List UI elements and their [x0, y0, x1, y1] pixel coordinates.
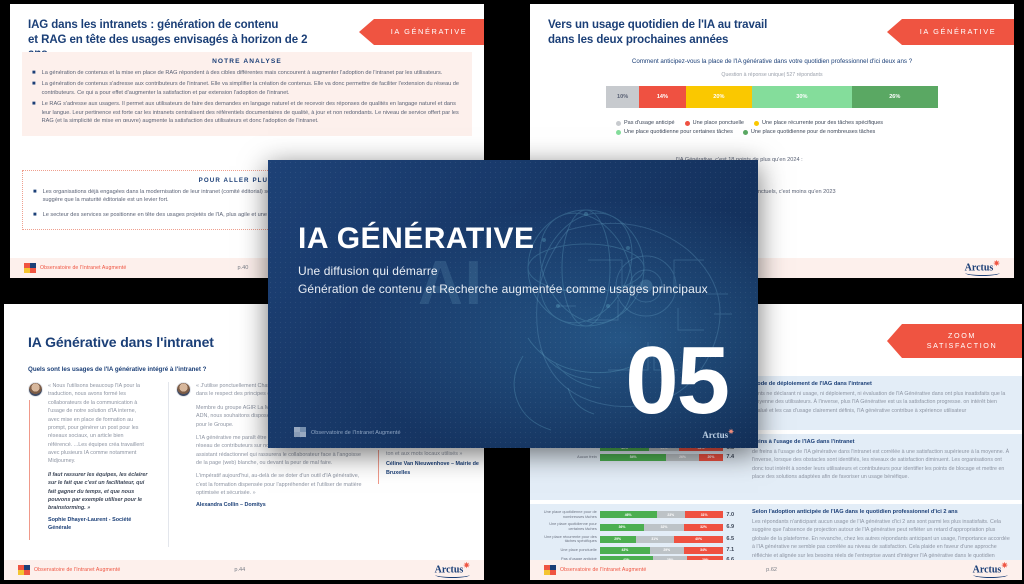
panel-notre-analyse: NOTRE ANALYSE ■ La génération de contenu… — [22, 52, 472, 136]
satisfaction-row: Une place ponctuelle43%29%34%7.1 — [536, 547, 742, 554]
bar-segment: 29% — [600, 536, 636, 543]
column-divider — [168, 382, 169, 547]
row-score: 6.9 — [726, 524, 742, 530]
brand-star-icon: ✷ — [993, 259, 1000, 268]
ribbon-line-2: SATISFACTION — [927, 341, 998, 351]
bar-segment: 34% — [684, 547, 724, 554]
overlay-subtitle-2: Génération de contenu et Recherche augme… — [298, 282, 708, 296]
bar-segment: 32% — [684, 524, 724, 531]
row-track: 29%31%40% — [600, 536, 724, 543]
quote-text: ton et aux mots locaux utilisés » — [386, 450, 484, 458]
brand-name: Arctus — [965, 262, 994, 273]
legend-row: Pas d'usage anticipé Une place ponctuell… — [616, 120, 883, 126]
row-label: Une place quotidienne pour certaines tâc… — [536, 522, 597, 532]
footer-observatory-label: Observatoire de l'Intranet Augmenté — [311, 430, 401, 436]
bar-segment: 14% — [639, 86, 685, 108]
bar-segment: 30% — [752, 86, 852, 108]
row-label: Une place ponctuelle — [536, 548, 597, 553]
row-track: 36%32%32% — [600, 524, 724, 531]
avatar — [176, 382, 191, 397]
bar-segment: 54% — [600, 454, 667, 461]
observatory-logo-group: Observatoire de l'Intranet Augmenté — [24, 263, 126, 274]
bar-segment: 32% — [644, 524, 684, 531]
title-line-1: Vers un usage quotidien de l'IA au trava… — [548, 18, 848, 33]
insight-body: dants ne déclarant ni usage, ni déploiem… — [752, 391, 1005, 414]
legend-item: Une place ponctuelle — [685, 120, 744, 126]
chart-legend: Pas d'usage anticipé Une place ponctuell… — [616, 120, 883, 138]
bar-segment: 26% — [852, 86, 938, 108]
bar-segment: 23% — [657, 511, 685, 518]
quote-accent-bar — [29, 400, 30, 540]
analysis-bullet: ■ Le RAG s'adresse aux usagers. Il perme… — [32, 100, 462, 125]
row-label: Une place récurrente pour des tâches spé… — [536, 535, 597, 545]
ribbon-badge: IA GÉNÉRATIVE — [902, 19, 1014, 45]
chart-subcaption: Question à réponse unique| 527 répondant… — [530, 72, 1014, 78]
title-line-1: IAG dans les intranets : génération de c… — [28, 18, 328, 33]
analysis-bullet: ■ La génération de contenus s'adresse au… — [32, 80, 462, 97]
arctus-squares-icon — [544, 565, 556, 576]
satisfaction-row: Une place quotidienne pour certaines tâc… — [536, 522, 742, 532]
quote-text-emphasis: Il faut rassurer les équipes, les éclair… — [48, 471, 148, 513]
legend-label: Une place quotidienne pour de nombreuses… — [751, 129, 875, 135]
quote-column-1: « Nous l'utilisons beaucoup l'IA pour la… — [48, 382, 148, 532]
legend-bullet-icon — [754, 121, 759, 126]
legend-item: Pas d'usage anticipé — [616, 120, 675, 126]
legend-label: Une place récurrente pour des tâches spé… — [762, 120, 883, 126]
arctus-squares-icon — [24, 263, 36, 274]
bar-segment: 20% — [686, 86, 752, 108]
quote-avatar-wrap — [176, 382, 194, 397]
slide-footer: Observatoire de l'Intranet Augmenté p.62… — [530, 560, 1022, 580]
insight-title: thode de déploiement de l'IAG dans l'int… — [752, 380, 1012, 389]
bar-segment: 20% — [699, 454, 724, 461]
bullet-dot: ■ — [32, 69, 36, 77]
legend-bullet-icon — [616, 121, 621, 126]
stacked-bar-chart: 10%14%20%30%26% — [606, 86, 938, 108]
row-label: Une place quotidienne pour de nombreuses… — [536, 510, 597, 520]
avatar — [28, 382, 43, 397]
slide-overlay-section-divider[interactable]: AI IA GÉNÉRATIVE Une diffusion qui démar… — [268, 160, 758, 448]
row-label: Aucun frein — [536, 455, 597, 460]
bar-segment: 10% — [606, 86, 639, 108]
footer-observatory-label: Observatoire de l'Intranet Augmenté — [40, 265, 126, 271]
page-number: p.62 — [766, 567, 777, 573]
insight-title: Selon l'adoption anticipée de l'IAG dans… — [752, 508, 1012, 517]
legend-item: Une place quotidienne pour de nombreuses… — [743, 129, 875, 135]
row-score: 7.1 — [726, 547, 742, 553]
bullet-dot: ■ — [32, 80, 36, 97]
ribbon-badge: ZOOM SATISFACTION — [902, 324, 1022, 358]
quote-avatar-wrap — [28, 382, 46, 397]
footer-observatory-label: Observatoire de l'Intranet Augmenté — [34, 567, 120, 573]
row-score: 7.0 — [726, 512, 742, 518]
bar-segment: 31% — [685, 511, 723, 518]
arctus-squares-icon — [18, 565, 30, 576]
brand-logo: Arctus✷ — [965, 259, 1000, 276]
satisfaction-row: Une place récurrente pour des tâches spé… — [536, 535, 742, 545]
sub-question: Quels sont les usages de l'IA générative… — [28, 366, 206, 373]
legend-item: Une place récurrente pour des tâches spé… — [754, 120, 883, 126]
bar-segment: 29% — [650, 547, 684, 554]
bullet-text: La génération de contenus s'adresse aux … — [42, 80, 462, 97]
legend-bullet-icon — [743, 130, 748, 135]
row-track: 54%26%20% — [600, 454, 724, 461]
title-line-2: dans les deux prochaines années — [548, 33, 848, 48]
row-score: 7.4 — [726, 454, 742, 460]
bullet-dot: ■ — [32, 100, 36, 125]
satisfaction-row: Une place quotidienne pour de nombreuses… — [536, 510, 742, 520]
brand-logo: Arctus✷ — [973, 561, 1008, 578]
bullet-dot: ■ — [33, 211, 37, 219]
panel-heading: NOTRE ANALYSE — [32, 58, 462, 65]
insight-body: de freins à l'usage de l'IA générative d… — [752, 449, 1009, 480]
insight-title: freins à l'usage de l'IAG dans l'intrane… — [752, 438, 1012, 447]
bar-segment: 26% — [666, 454, 698, 461]
insight-text-2: freins à l'usage de l'IAG dans l'intrane… — [752, 438, 1012, 482]
bar-segment: 40% — [674, 536, 723, 543]
page-number: p.44 — [234, 567, 245, 573]
insight-text-1: thode de déploiement de l'IAG dans l'int… — [752, 380, 1012, 415]
bar-segment: 36% — [600, 524, 644, 531]
legend-label: Une place quotidienne pour certaines tâc… — [624, 129, 733, 135]
page-title: Vers un usage quotidien de l'IA au trava… — [548, 18, 848, 47]
bullet-dot: ■ — [33, 188, 37, 205]
quote-author: Céline Van Nieuwenhove – Mairie de Bruxe… — [386, 460, 484, 477]
brand-star-icon: ✷ — [728, 428, 734, 436]
brand-star-icon: ✷ — [1001, 561, 1008, 570]
legend-bullet-icon — [685, 121, 690, 126]
row-track: 43%29%34% — [600, 547, 724, 554]
satisfaction-row: Aucun frein54%26%20%7.4 — [536, 454, 742, 461]
brand-logo: Arctus✷ — [435, 561, 470, 578]
quote-column-3: ton et aux mots locaux utilisés » Céline… — [386, 450, 484, 477]
quote-author: Alexandra Collin – Domitys — [196, 501, 366, 509]
slide-footer: Observatoire de l'Intranet Augmenté p.44… — [4, 560, 484, 580]
legend-bullet-icon — [616, 130, 621, 135]
page-number: p.40 — [238, 265, 249, 271]
legend-row: Une place quotidienne pour certaines tâc… — [616, 129, 883, 135]
brand-logo: Arctus✷ — [702, 428, 734, 440]
bullet-text: Le RAG s'adresse aux usagers. Il permet … — [42, 100, 462, 125]
legend-label: Une place ponctuelle — [693, 120, 744, 126]
row-score: 6.5 — [726, 536, 742, 542]
chart-question: Comment anticipez-vous la place de l'IA … — [530, 58, 1014, 65]
bullet-text: La génération de contenus et la mise en … — [42, 69, 443, 77]
quote-text: « Nous l'utilisons beaucoup l'IA pour la… — [48, 382, 148, 466]
quote-text: L'impératif aujourd'hui, au-delà de se d… — [196, 472, 366, 497]
overlay-section-number: 05 — [625, 340, 728, 422]
overlay-subtitle-1: Une diffusion qui démarre — [298, 264, 438, 278]
bar-segment: 31% — [636, 536, 674, 543]
brand-name: Arctus — [435, 564, 464, 575]
brand-name: Arctus — [973, 564, 1002, 575]
bar-segment: 46% — [600, 511, 657, 518]
arctus-squares-icon — [294, 427, 306, 438]
quote-accent-bar — [378, 450, 379, 484]
observatory-logo-group: Observatoire de l'Intranet Augmenté — [544, 565, 646, 576]
quote-author: Sophie Dhayer-Laurent - Société Générale — [48, 516, 148, 533]
brand-name: Arctus — [702, 430, 728, 440]
footer-observatory-label: Observatoire de l'Intranet Augmenté — [560, 567, 646, 573]
observatory-logo-group: Observatoire de l'Intranet Augmenté — [18, 565, 120, 576]
analysis-bullet: ■ La génération de contenus et la mise e… — [32, 69, 462, 77]
brand-star-icon: ✷ — [463, 561, 470, 570]
ribbon-line-1: ZOOM — [948, 331, 976, 341]
slide-deck-canvas: IAG dans les intranets : génération de c… — [0, 0, 1024, 584]
ribbon-badge: IA GÉNÉRATIVE — [374, 19, 484, 45]
overlay-title: IA GÉNÉRATIVE — [298, 222, 535, 256]
satisfaction-bar-chart-adoption: Une place quotidienne pour de nombreuses… — [536, 510, 742, 566]
legend-item: Une place quotidienne pour certaines tâc… — [616, 129, 733, 135]
row-track: 46%23%31% — [600, 511, 724, 518]
bar-segment: 43% — [600, 547, 650, 554]
page-title: IA Générative dans l'intranet — [28, 334, 214, 352]
overlay-footer: Observatoire de l'Intranet Augmenté — [294, 427, 401, 438]
legend-label: Pas d'usage anticipé — [624, 120, 675, 126]
